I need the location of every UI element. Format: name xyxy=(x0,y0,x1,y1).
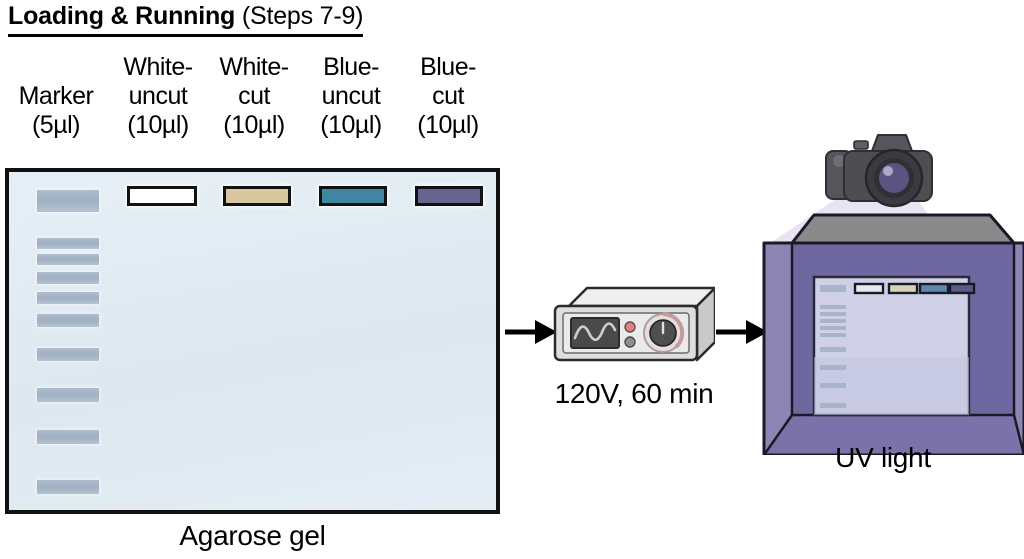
lane-header-white-cut-line2: cut xyxy=(204,82,304,111)
power-supply xyxy=(551,286,715,376)
marker-band xyxy=(37,430,99,444)
title-regular-part: (Steps 7-9) xyxy=(235,2,363,30)
page-title: Loading & Running (Steps 7-9) xyxy=(8,2,363,37)
uv-box-caption: UV light xyxy=(742,442,1024,474)
well-white-uncut xyxy=(127,186,197,206)
marker-band xyxy=(37,292,99,304)
marker-band xyxy=(37,480,99,494)
marker-band xyxy=(37,348,99,361)
lane-header-white-uncut-line1: White- xyxy=(106,53,210,82)
lane-header-marker: Marker(5µl) xyxy=(2,53,110,140)
lane-header-white-cut: White-cut(10µl) xyxy=(204,53,304,140)
gel-caption: Agarose gel xyxy=(5,520,500,552)
lane-header-white-cut-line1: White- xyxy=(204,53,304,82)
marker-band xyxy=(37,238,99,249)
well-blue-cut xyxy=(415,186,483,206)
lane-header-blue-uncut-line3: (10µl) xyxy=(300,111,402,140)
marker-band xyxy=(37,190,99,212)
title-bold-part: Loading & Running xyxy=(8,2,235,30)
lane-header-white-cut-line3: (10µl) xyxy=(204,111,304,140)
arrow-gel-to-psu xyxy=(505,318,557,351)
lane-header-blue-cut-line1: Blue- xyxy=(398,53,498,82)
lane-header-blue-uncut: Blue-uncut(10µl) xyxy=(300,53,402,140)
lane-header-white-uncut-line3: (10µl) xyxy=(106,111,210,140)
dslr-camera-icon xyxy=(820,125,946,220)
marker-band xyxy=(37,314,99,327)
marker-band xyxy=(37,388,99,402)
marker-band xyxy=(37,254,99,265)
lane-header-blue-uncut-line2: uncut xyxy=(300,82,402,111)
uv-light-box xyxy=(742,125,1024,450)
lane-header-white-uncut: White-uncut(10µl) xyxy=(106,53,210,140)
well-white-cut xyxy=(223,186,291,206)
agarose-gel xyxy=(5,168,500,514)
diagram-canvas: Loading & Running (Steps 7-9) Marker(5µl… xyxy=(0,0,1024,559)
lane-header-blue-cut: Blue-cut(10µl) xyxy=(398,53,498,140)
lane-header-blue-cut-line3: (10µl) xyxy=(398,111,498,140)
lane-header-white-uncut-line2: uncut xyxy=(106,82,210,111)
lane-header-blue-cut-line2: cut xyxy=(398,82,498,111)
well-blue-uncut xyxy=(319,186,387,206)
power-supply-caption: 120V, 60 min xyxy=(520,378,748,410)
lane-header-blue-uncut-line1: Blue- xyxy=(300,53,402,82)
lane-header-marker-line3: (5µl) xyxy=(2,111,110,140)
marker-band xyxy=(37,272,99,284)
lane-header-marker-line2: Marker xyxy=(2,82,110,111)
